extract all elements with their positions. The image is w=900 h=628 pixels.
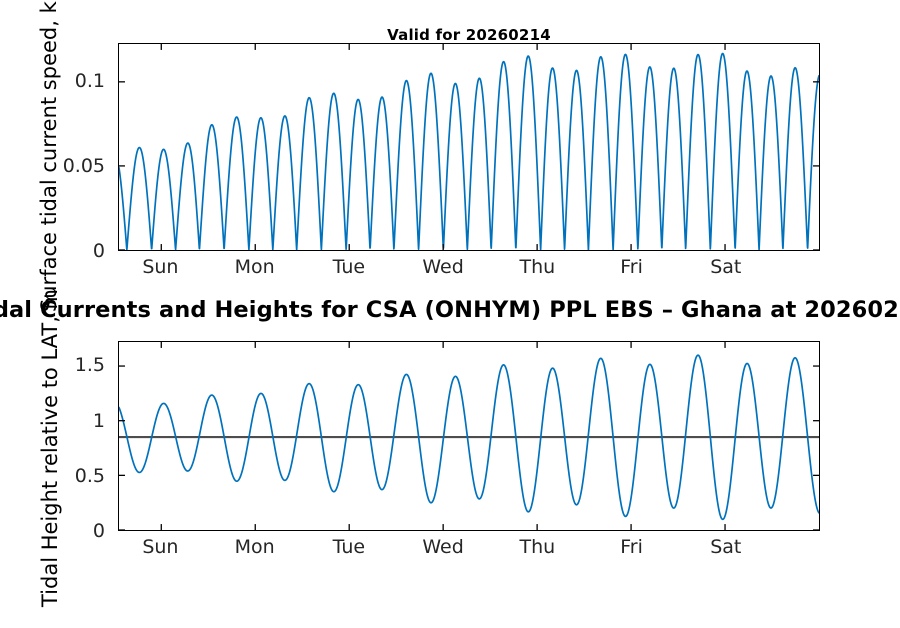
x-tick-label: Mon: [235, 536, 275, 558]
x-tick-label: Sun: [142, 536, 178, 558]
x-tick-label: Fri: [620, 536, 643, 558]
y-tick-label: 1: [93, 410, 112, 432]
y-tick-label: 0: [93, 240, 112, 262]
surface-tidal-current-speed-plot: [119, 44, 819, 250]
bottom-panel-x-tick-labels: SunMonTueWedThuFriSat: [118, 536, 820, 566]
top-panel-x-tick-labels: SunMonTueWedThuFriSat: [118, 256, 820, 286]
x-tick-label: Sat: [710, 536, 741, 558]
y-tick-label: 0.05: [63, 155, 112, 177]
x-tick-label: Fri: [620, 256, 643, 278]
x-tick-label: Thu: [519, 256, 555, 278]
y-tick-label: 0: [93, 520, 112, 542]
tidal-figure: Valid for 20260214 0.10.050 SunMonTueWed…: [0, 0, 900, 600]
y-tick-label: 0.5: [75, 465, 112, 487]
x-tick-label: Sun: [142, 256, 178, 278]
main-figure-title: Tidal Currents and Heights for CSA (ONHY…: [0, 297, 900, 323]
x-tick-label: Sat: [710, 256, 741, 278]
x-tick-label: Tue: [333, 536, 365, 558]
x-tick-label: Mon: [235, 256, 275, 278]
x-tick-label: Thu: [519, 536, 555, 558]
y-tick-label: 1.5: [75, 354, 112, 376]
x-tick-label: Wed: [422, 536, 463, 558]
x-tick-label: Tue: [333, 256, 365, 278]
y-tick-label: 0.1: [75, 70, 112, 92]
tidal-height-plot: [119, 342, 819, 530]
top-panel-title: Valid for 20260214: [118, 26, 820, 44]
top-panel-axes: [118, 43, 820, 251]
x-tick-label: Wed: [422, 256, 463, 278]
tide-series-line: [119, 54, 819, 250]
bottom-panel-axes: [118, 341, 820, 531]
